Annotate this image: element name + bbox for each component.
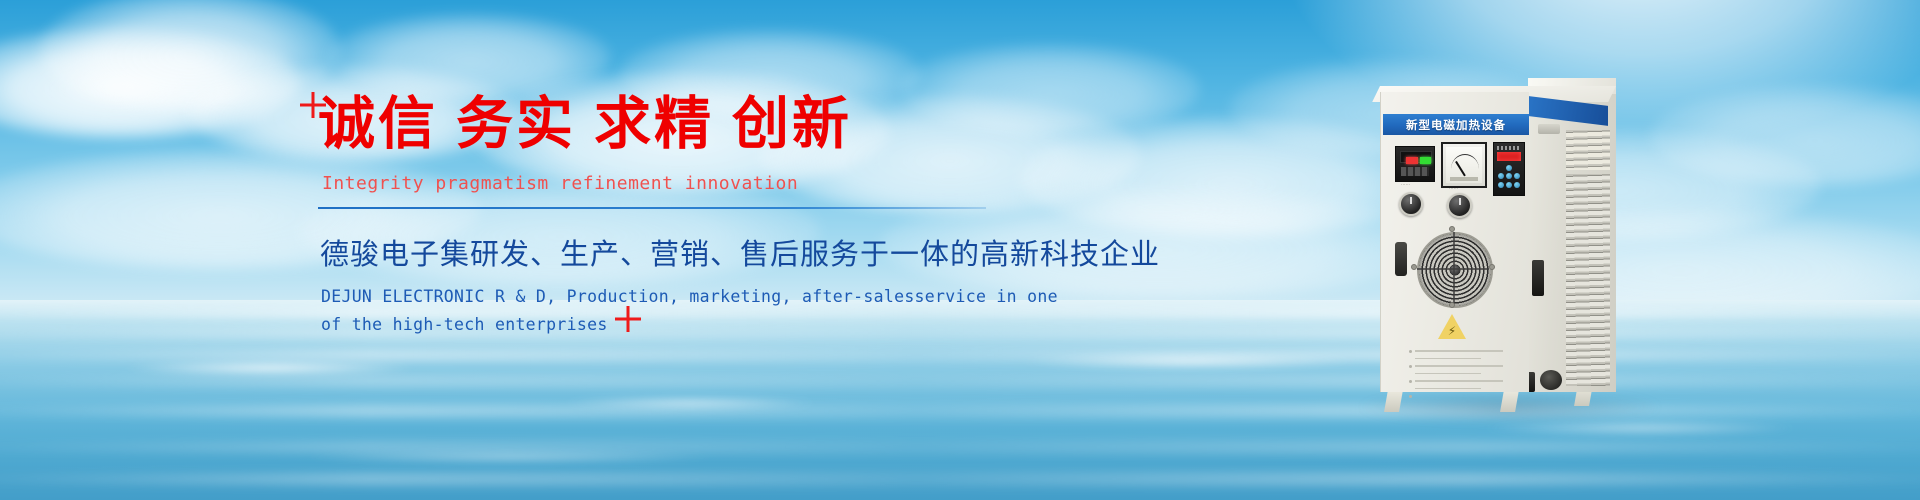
display-green-segment (1420, 157, 1431, 164)
warning-symbol-icon: ⚡ (1438, 324, 1466, 338)
headline-word-2: 务实 (456, 92, 594, 156)
company-description-english: DEJUN ELECTRONIC R & D, Production, mark… (321, 283, 1038, 340)
gauge-face (1446, 147, 1482, 183)
display-red-segment (1406, 157, 1418, 164)
headline-word-4: 创新 (732, 92, 870, 156)
controller-label: ······ (1401, 182, 1410, 187)
fan-grille-crossbar (1417, 232, 1489, 304)
controller-buttons[interactable] (1401, 167, 1429, 176)
product-name-label: 新型电磁加热设备 (1383, 114, 1529, 135)
power-selector-knob-icon[interactable] (1399, 192, 1423, 216)
analog-ammeter-gauge-icon (1441, 142, 1487, 188)
headline-word-3: 求精 (594, 92, 732, 156)
side-switch-icon (1532, 260, 1544, 296)
adjustment-knob-icon[interactable] (1447, 193, 1472, 218)
gauge-label-strip (1450, 177, 1478, 181)
product-image-heating-equipment: 新型电磁加热设备 ······ ······ (1380, 78, 1625, 408)
banner-copy: 诚信务实求精创新 Integrity pragmatism refinement… (318, 96, 1038, 340)
specification-text-block (1415, 350, 1503, 395)
divider-line (318, 207, 986, 209)
keypad-indicator-strip (1497, 146, 1521, 150)
ventilation-louvers-icon (1566, 174, 1610, 386)
company-description-chinese: 德骏电子集研发、生产、营销、售后服务于一体的高新科技企业 (320, 231, 1038, 273)
cable-port-icon (1540, 370, 1562, 390)
headline-english-subtitle: Integrity pragmatism refinement innovati… (322, 173, 1038, 194)
promotional-banner: 诚信务实求精创新 Integrity pragmatism refinement… (0, 0, 1920, 500)
keypad-control-panel-icon[interactable] (1493, 142, 1525, 196)
gauge-label: ······ (1449, 186, 1458, 191)
company-description-english-line-1: DEJUN ELECTRONIC R & D, Production, mark… (321, 283, 1038, 311)
headline-slogan: 诚信务实求精创新 (318, 96, 1038, 153)
headline-word-1: 诚信 (318, 92, 456, 156)
company-description-english-line-2: of the high-tech enterprises (321, 311, 1038, 339)
keypad-keys[interactable] (1498, 165, 1520, 191)
machine-front-panel: 新型电磁加热设备 ······ ······ (1380, 92, 1529, 392)
keypad-display (1497, 152, 1521, 161)
ventilation-louvers-icon (1566, 130, 1610, 170)
digital-temperature-controller-icon[interactable] (1395, 146, 1435, 182)
rating-plate (1395, 242, 1407, 276)
controller-display (1400, 151, 1432, 163)
side-slot (1538, 124, 1560, 134)
